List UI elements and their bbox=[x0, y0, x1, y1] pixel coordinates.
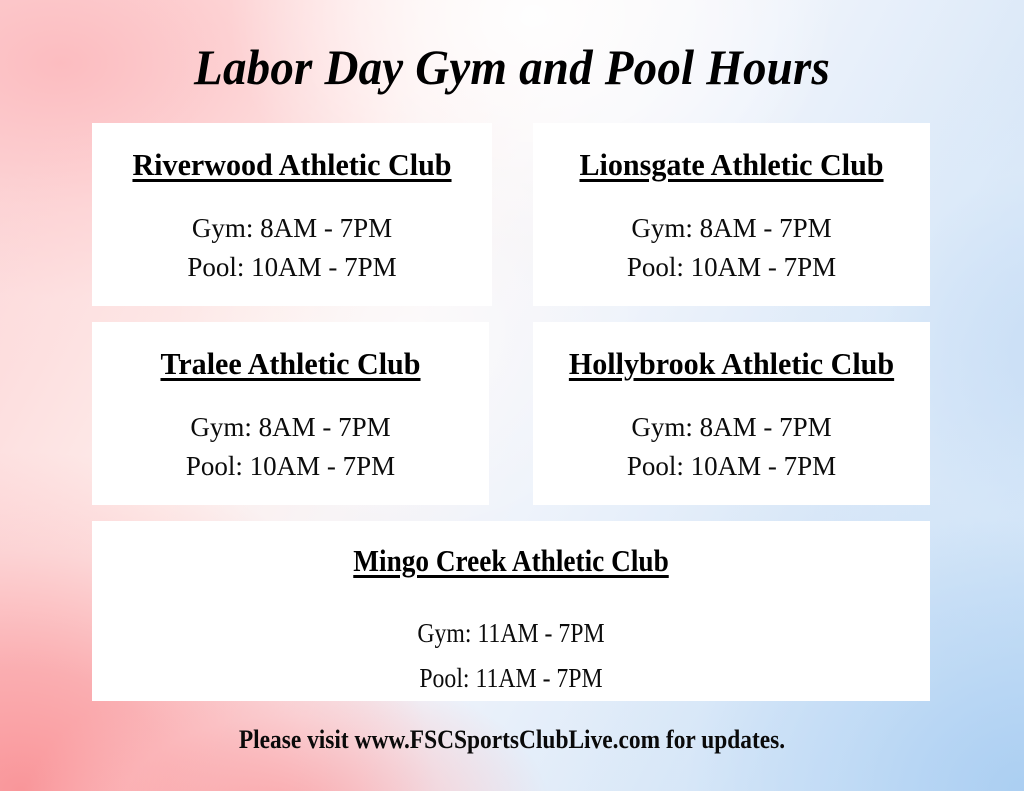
club-hours-lionsgate: Gym: 8AM - 7PM Pool: 10AM - 7PM bbox=[533, 209, 930, 287]
footer-note: Please visit www.FSCSportsClubLive.com f… bbox=[51, 724, 973, 756]
club-card-tralee: Tralee Athletic Club Gym: 8AM - 7PM Pool… bbox=[92, 322, 489, 505]
gym-hours: Gym: 11AM - 7PM bbox=[142, 611, 879, 656]
club-card-riverwood: Riverwood Athletic Club Gym: 8AM - 7PM P… bbox=[92, 123, 492, 306]
gym-hours: Gym: 8AM - 7PM bbox=[533, 408, 930, 447]
club-hours-mingo-creek: Gym: 11AM - 7PM Pool: 11AM - 7PM bbox=[92, 611, 930, 701]
pool-hours: Pool: 10AM - 7PM bbox=[92, 447, 489, 486]
club-card-lionsgate: Lionsgate Athletic Club Gym: 8AM - 7PM P… bbox=[533, 123, 930, 306]
gym-hours: Gym: 8AM - 7PM bbox=[533, 209, 930, 248]
club-hours-hollybrook: Gym: 8AM - 7PM Pool: 10AM - 7PM bbox=[533, 408, 930, 486]
poster-canvas: Labor Day Gym and Pool Hours Riverwood A… bbox=[0, 0, 1024, 791]
pool-hours: Pool: 10AM - 7PM bbox=[533, 447, 930, 486]
page-title: Labor Day Gym and Pool Hours bbox=[31, 38, 994, 96]
club-card-hollybrook: Hollybrook Athletic Club Gym: 8AM - 7PM … bbox=[533, 322, 930, 505]
club-name-lionsgate: Lionsgate Athletic Club bbox=[539, 147, 924, 183]
club-name-riverwood: Riverwood Athletic Club bbox=[98, 147, 486, 183]
pool-hours: Pool: 10AM - 7PM bbox=[533, 248, 930, 287]
club-name-tralee: Tralee Athletic Club bbox=[98, 346, 483, 382]
club-hours-tralee: Gym: 8AM - 7PM Pool: 10AM - 7PM bbox=[92, 408, 489, 486]
club-name-hollybrook: Hollybrook Athletic Club bbox=[539, 346, 924, 382]
poster-content: Labor Day Gym and Pool Hours Riverwood A… bbox=[0, 0, 1024, 791]
club-card-mingo-creek: Mingo Creek Athletic Club Gym: 11AM - 7P… bbox=[92, 521, 930, 701]
gym-hours: Gym: 8AM - 7PM bbox=[92, 408, 489, 447]
pool-hours: Pool: 11AM - 7PM bbox=[142, 656, 879, 701]
gym-hours: Gym: 8AM - 7PM bbox=[92, 209, 492, 248]
club-hours-riverwood: Gym: 8AM - 7PM Pool: 10AM - 7PM bbox=[92, 209, 492, 287]
club-name-mingo-creek: Mingo Creek Athletic Club bbox=[142, 543, 879, 579]
pool-hours: Pool: 10AM - 7PM bbox=[92, 248, 492, 287]
